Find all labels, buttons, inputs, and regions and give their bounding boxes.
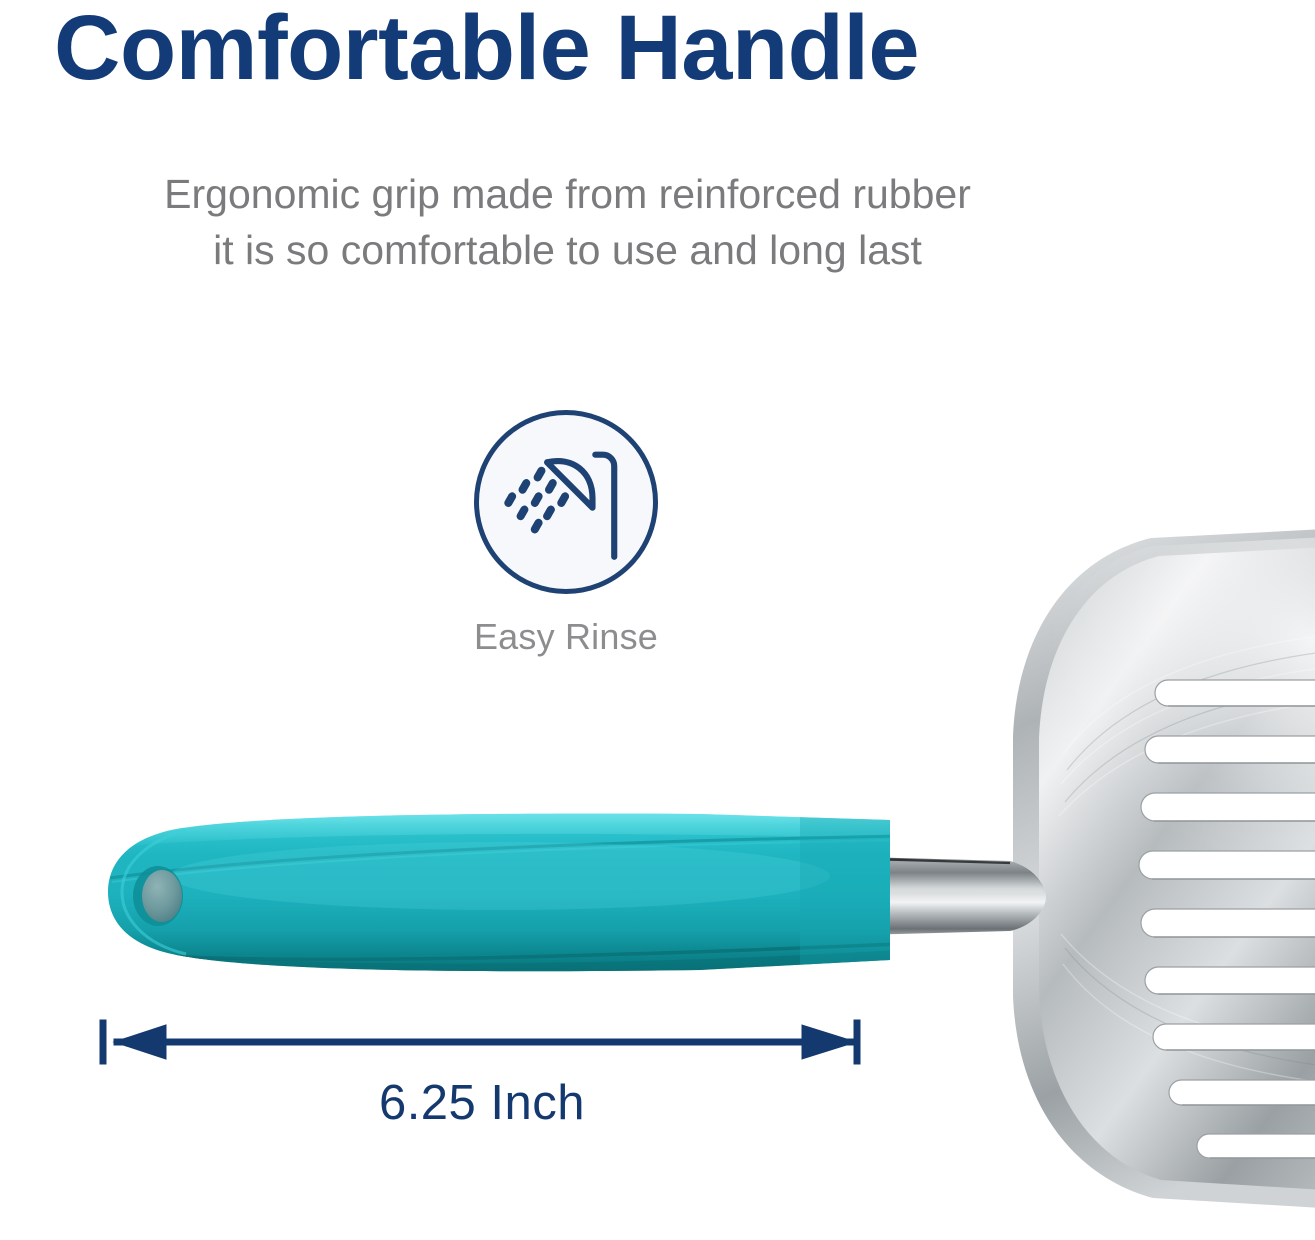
shower-head-icon bbox=[479, 415, 653, 589]
rubber-grip-handle bbox=[100, 804, 900, 994]
dimension-arrow bbox=[96, 1014, 876, 1078]
product-feature-image: Comfortable Handle Ergonomic grip made f… bbox=[0, 0, 1315, 1240]
feature-badge-easy-rinse: Easy Rinse bbox=[466, 410, 666, 658]
hanging-hole bbox=[142, 870, 182, 922]
arrow-head-right bbox=[802, 1025, 856, 1059]
dimension-label: 6.25 Inch bbox=[96, 1074, 868, 1132]
dimension-tick-left bbox=[100, 1020, 106, 1064]
subtitle-line-2: it is so comfortable to use and long las… bbox=[0, 222, 1135, 278]
badge-label: Easy Rinse bbox=[466, 616, 666, 658]
subtitle: Ergonomic grip made from reinforced rubb… bbox=[0, 166, 1135, 278]
page-title: Comfortable Handle bbox=[54, 0, 1174, 100]
badge-circle bbox=[474, 410, 658, 594]
subtitle-line-1: Ergonomic grip made from reinforced rubb… bbox=[164, 171, 971, 217]
water-droplets-icon bbox=[508, 471, 565, 530]
arrow-head-left bbox=[114, 1025, 166, 1059]
